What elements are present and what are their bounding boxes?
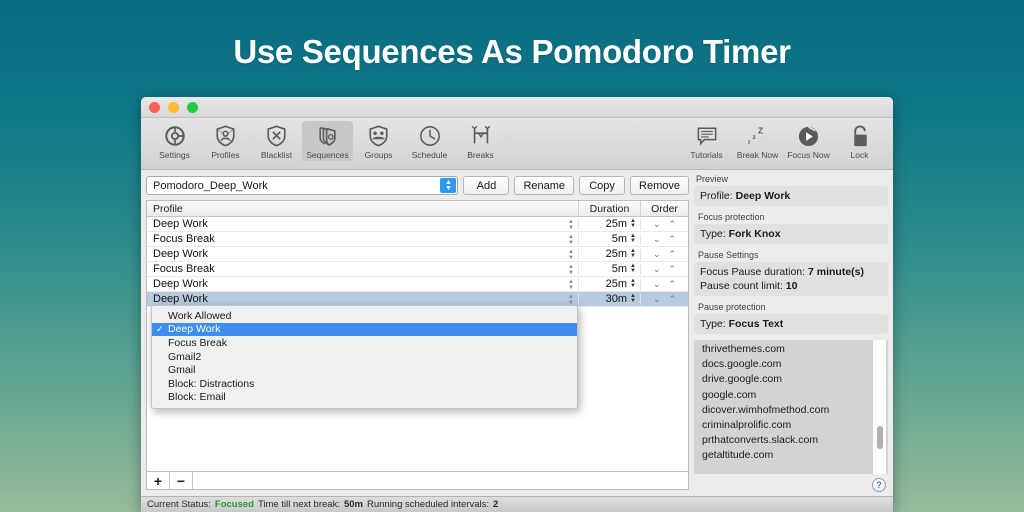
table-header-row: Profile Duration Order	[147, 201, 688, 217]
status-time-value: 50m	[344, 499, 363, 510]
toolbar-label: Tutorials	[690, 150, 722, 160]
row-profile-label: Deep Work	[153, 248, 208, 260]
minimize-icon[interactable]	[168, 102, 179, 113]
aperture-gear-icon	[162, 123, 188, 149]
toolbar-label: Groups	[365, 150, 393, 160]
window-titlebar	[141, 97, 893, 118]
sequence-dropdown-value: Pomodoro_Deep_Work	[153, 180, 268, 192]
row-order-cell: ⌄⌃	[640, 249, 688, 260]
duration-stepper-icon[interactable]: ▲▼	[630, 234, 636, 244]
row-order-cell: ⌄⌃	[640, 279, 688, 290]
column-header-duration[interactable]: Duration	[578, 201, 640, 216]
shield-person-icon	[213, 123, 239, 149]
table-row[interactable]: Focus Break▲▼5m▲▼⌄⌃	[147, 232, 688, 247]
column-header-order[interactable]: Order	[640, 201, 688, 216]
site-list-scrollbar[interactable]	[873, 340, 886, 474]
move-up-icon[interactable]: ⌃	[668, 219, 676, 230]
site-items-container: thrivethemes.comdocs.google.comdrive.goo…	[694, 342, 888, 464]
toolbar-label: Blacklist	[261, 150, 292, 160]
toolbar-item-lock[interactable]: Lock	[834, 121, 885, 161]
pause-duration-line: Focus Pause duration: 7 minute(s)	[700, 265, 882, 279]
duration-stepper-icon[interactable]: ▲▼	[630, 249, 636, 259]
popup-menu-item[interactable]: Work Allowed	[152, 309, 577, 323]
profile-popup-menu[interactable]: Work Allowed✓Deep WorkFocus BreakGmail2G…	[151, 305, 578, 409]
row-duration-cell[interactable]: 30m▲▼	[578, 293, 640, 305]
move-down-icon[interactable]: ⌄	[653, 249, 661, 260]
popup-menu-item[interactable]: Block: Distractions	[152, 377, 577, 391]
duration-stepper-icon[interactable]: ▲▼	[630, 279, 636, 289]
preview-profile-box: Profile: Deep Work	[694, 186, 888, 206]
profile-stepper-icon[interactable]: ▲▼	[568, 249, 574, 261]
profile-stepper-icon[interactable]: ▲▼	[568, 234, 574, 246]
move-down-icon[interactable]: ⌄	[653, 219, 661, 230]
row-duration-value: 5m	[612, 233, 627, 245]
row-profile-label: Focus Break	[153, 263, 215, 275]
move-up-icon[interactable]: ⌃	[668, 264, 676, 275]
toolbar-left-group: Settings Profiles Blacklist Sequences	[149, 121, 506, 161]
focus-type-value: Fork Knox	[729, 228, 781, 240]
rename-sequence-button[interactable]: Rename	[514, 176, 574, 195]
toolbar-label: Settings	[159, 150, 190, 160]
toolbar-label: Sequences	[306, 150, 349, 160]
row-profile-label: Deep Work	[153, 278, 208, 290]
row-duration-value: 5m	[612, 263, 627, 275]
row-order-cell: ⌄⌃	[640, 294, 688, 305]
duration-stepper-icon[interactable]: ▲▼	[630, 264, 636, 274]
traffic-lights	[149, 102, 198, 113]
preview-profile-line: Profile: Deep Work	[700, 189, 882, 203]
svg-text:Z: Z	[758, 126, 763, 135]
row-profile-label: Deep Work	[153, 293, 208, 305]
row-profile-cell[interactable]: Deep Work▲▼	[147, 218, 578, 230]
popup-menu-item[interactable]: Gmail	[152, 363, 577, 377]
maximize-icon[interactable]	[187, 102, 198, 113]
chevron-updown-icon[interactable]: ▲▼	[440, 178, 456, 193]
toolbar-item-groups[interactable]: Groups	[353, 121, 404, 161]
sequences-pane: Pomodoro_Deep_Work ▲▼ Add Rename Copy Re…	[141, 170, 692, 496]
svg-text:z: z	[752, 134, 755, 141]
toolbar-item-tutorials[interactable]: Tutorials	[681, 121, 732, 161]
row-order-cell: ⌄⌃	[640, 219, 688, 230]
pause-type-line: Type: Focus Text	[700, 317, 882, 331]
row-duration-cell[interactable]: 25m▲▼	[578, 278, 640, 290]
help-button[interactable]: ?	[872, 478, 886, 492]
app-window: Settings Profiles Blacklist Sequences	[141, 97, 893, 512]
popup-item-label: Block: Distractions	[168, 378, 254, 390]
scrollbar-thumb[interactable]	[877, 426, 883, 449]
toolbar-right-group: Tutorials Zzz Break Now Focus Now Lock	[681, 121, 885, 161]
toolbar-item-profiles[interactable]: Profiles	[200, 121, 251, 161]
focus-type-line: Type: Fork Knox	[700, 227, 882, 241]
shield-x-icon	[264, 123, 290, 149]
table-row[interactable]: Deep Work▲▼25m▲▼⌄⌃	[147, 277, 688, 292]
popup-item-label: Focus Break	[168, 337, 227, 349]
pause-protection-box: Type: Focus Text	[694, 314, 888, 334]
focus-protection-caption: Focus protection	[698, 212, 888, 222]
toolbar-item-focus-now[interactable]: Focus Now	[783, 121, 834, 161]
row-order-cell: ⌄⌃	[640, 264, 688, 275]
row-profile-cell[interactable]: Deep Work▲▼	[147, 293, 578, 305]
toolbar-label: Profiles	[211, 150, 239, 160]
move-up-icon[interactable]: ⌃	[668, 249, 676, 260]
row-profile-label: Focus Break	[153, 233, 215, 245]
speech-lines-icon	[694, 123, 720, 149]
status-badge: Focused	[215, 499, 254, 510]
toolbar-label: Focus Now	[787, 150, 830, 160]
remove-sequence-button[interactable]: Remove	[630, 176, 689, 195]
padlock-icon	[847, 123, 873, 149]
row-profile-label: Deep Work	[153, 218, 208, 230]
toolbar-label: Break Now	[737, 150, 779, 160]
popup-item-label: Deep Work	[168, 323, 220, 335]
pause-settings-caption: Pause Settings	[698, 250, 888, 260]
page-title: Use Sequences As Pomodoro Timer	[0, 33, 1024, 71]
close-icon[interactable]	[149, 102, 160, 113]
row-order-cell: ⌄⌃	[640, 234, 688, 245]
remove-row-button[interactable]: −	[170, 472, 193, 489]
move-up-icon[interactable]: ⌃	[668, 234, 676, 245]
profile-stepper-icon[interactable]: ▲▼	[568, 219, 574, 231]
pause-settings-box: Focus Pause duration: 7 minute(s) Pause …	[694, 262, 888, 296]
site-list-item[interactable]: getaltitude.com	[694, 448, 888, 463]
popup-item-label: Gmail2	[168, 351, 201, 363]
add-remove-filler	[193, 472, 688, 489]
status-time-label: Time till next break:	[258, 499, 340, 510]
move-down-icon[interactable]: ⌄	[653, 279, 661, 290]
popup-menu-item[interactable]: ✓Deep Work	[152, 323, 577, 337]
row-duration-value: 25m	[606, 248, 627, 260]
stacked-cards-icon	[315, 123, 341, 149]
main-toolbar: Settings Profiles Blacklist Sequences	[141, 118, 893, 170]
row-profile-cell[interactable]: Deep Work▲▼	[147, 248, 578, 260]
popup-item-label: Block: Email	[168, 391, 226, 403]
profile-stepper-icon[interactable]: ▲▼	[568, 279, 574, 291]
row-duration-cell[interactable]: 5m▲▼	[578, 233, 640, 245]
row-duration-cell[interactable]: 5m▲▼	[578, 263, 640, 275]
help-row: ?	[694, 474, 888, 496]
pause-duration-label: Focus Pause duration:	[700, 266, 805, 278]
site-list-item[interactable]: dicover.wimhofmethod.com	[694, 403, 888, 418]
pause-count-value: 10	[786, 280, 798, 292]
pause-type-value: Focus Text	[729, 318, 784, 330]
move-down-icon[interactable]: ⌄	[653, 234, 661, 245]
site-list-item[interactable]: criminalprolific.com	[694, 418, 888, 433]
toolbar-item-schedule[interactable]: Schedule	[404, 121, 455, 161]
pause-count-label: Pause count limit:	[700, 280, 783, 292]
toolbar-item-breaks[interactable]: Breaks	[455, 121, 506, 161]
play-aperture-icon	[796, 123, 822, 149]
row-duration-cell[interactable]: 25m▲▼	[578, 218, 640, 230]
status-intervals-value: 2	[493, 499, 498, 510]
row-profile-cell[interactable]: Focus Break▲▼	[147, 233, 578, 245]
pause-count-line: Pause count limit: 10	[700, 279, 882, 293]
move-down-icon[interactable]: ⌄	[653, 264, 661, 275]
duration-stepper-icon[interactable]: ▲▼	[630, 219, 636, 229]
preview-profile-label: Profile:	[700, 190, 733, 202]
copy-sequence-button[interactable]: Copy	[579, 176, 625, 195]
toolbar-label: Schedule	[412, 150, 447, 160]
preview-caption: Preview	[696, 174, 888, 184]
toolbar-label: Lock	[851, 150, 869, 160]
add-sequence-button[interactable]: Add	[463, 176, 509, 195]
clock-icon	[417, 123, 443, 149]
move-up-icon[interactable]: ⌃	[668, 279, 676, 290]
status-intervals-label: Running scheduled intervals:	[367, 499, 489, 510]
status-current-label: Current Status:	[147, 499, 211, 510]
zzz-icon: Zzz	[745, 123, 771, 149]
row-duration-value: 25m	[606, 218, 627, 230]
row-profile-cell[interactable]: Focus Break▲▼	[147, 263, 578, 275]
toolbar-item-settings[interactable]: Settings	[149, 121, 200, 161]
table-row[interactable]: Focus Break▲▼5m▲▼⌄⌃	[147, 262, 688, 277]
add-remove-bar: + −	[146, 472, 689, 490]
pause-protection-caption: Pause protection	[698, 302, 888, 312]
sequence-dropdown[interactable]: Pomodoro_Deep_Work ▲▼	[146, 176, 458, 195]
pause-duration-value: 7 minute(s)	[808, 266, 864, 278]
sequence-table: Profile Duration Order Deep Work▲▼25m▲▼⌄…	[146, 200, 689, 472]
site-list-item[interactable]: thrivethemes.com	[694, 342, 888, 357]
preview-pane: Preview Profile: Deep Work Focus protect…	[692, 170, 893, 496]
preview-profile-value: Deep Work	[736, 190, 791, 202]
duration-stepper-icon[interactable]: ▲▼	[630, 294, 636, 304]
site-list-item[interactable]: google.com	[694, 388, 888, 403]
row-duration-cell[interactable]: 25m▲▼	[578, 248, 640, 260]
popup-menu-item[interactable]: Gmail2	[152, 350, 577, 364]
sequence-selector-row: Pomodoro_Deep_Work ▲▼ Add Rename Copy Re…	[146, 175, 689, 196]
toolbar-label: Breaks	[467, 150, 493, 160]
blocked-site-list[interactable]: thrivethemes.comdocs.google.comdrive.goo…	[694, 340, 888, 474]
move-down-icon[interactable]: ⌄	[653, 294, 661, 305]
status-bar: Current Status: Focused Time till next b…	[141, 496, 893, 512]
window-body: Pomodoro_Deep_Work ▲▼ Add Rename Copy Re…	[141, 170, 893, 496]
table-row[interactable]: Deep Work▲▼25m▲▼⌄⌃	[147, 247, 688, 262]
toolbar-item-sequences[interactable]: Sequences	[302, 121, 353, 161]
move-up-icon[interactable]: ⌃	[668, 294, 676, 305]
svg-text:z: z	[747, 139, 750, 145]
profile-stepper-icon[interactable]: ▲▼	[568, 264, 574, 276]
checkmark-icon: ✓	[156, 324, 168, 335]
site-list-item[interactable]: docs.google.com	[694, 357, 888, 372]
popup-item-label: Gmail	[168, 364, 195, 376]
pause-type-label: Type:	[700, 318, 726, 330]
popup-item-label: Work Allowed	[168, 310, 231, 322]
site-list-item[interactable]: prthatconverts.slack.com	[694, 433, 888, 448]
goalpost-icon	[468, 123, 494, 149]
popup-menu-item[interactable]: Focus Break	[152, 336, 577, 350]
row-duration-value: 30m	[606, 293, 627, 305]
popup-menu-item[interactable]: Block: Email	[152, 391, 577, 405]
toolbar-item-blacklist[interactable]: Blacklist	[251, 121, 302, 161]
row-duration-value: 25m	[606, 278, 627, 290]
focus-protection-box: Type: Fork Knox	[694, 224, 888, 244]
table-row[interactable]: Deep Work▲▼25m▲▼⌄⌃	[147, 217, 688, 232]
site-list-item[interactable]: drive.google.com	[694, 372, 888, 387]
focus-type-label: Type:	[700, 228, 726, 240]
column-header-profile[interactable]: Profile	[147, 201, 578, 216]
shield-people-icon	[366, 123, 392, 149]
add-row-button[interactable]: +	[147, 472, 170, 489]
toolbar-item-break-now[interactable]: Zzz Break Now	[732, 121, 783, 161]
row-profile-cell[interactable]: Deep Work▲▼	[147, 278, 578, 290]
